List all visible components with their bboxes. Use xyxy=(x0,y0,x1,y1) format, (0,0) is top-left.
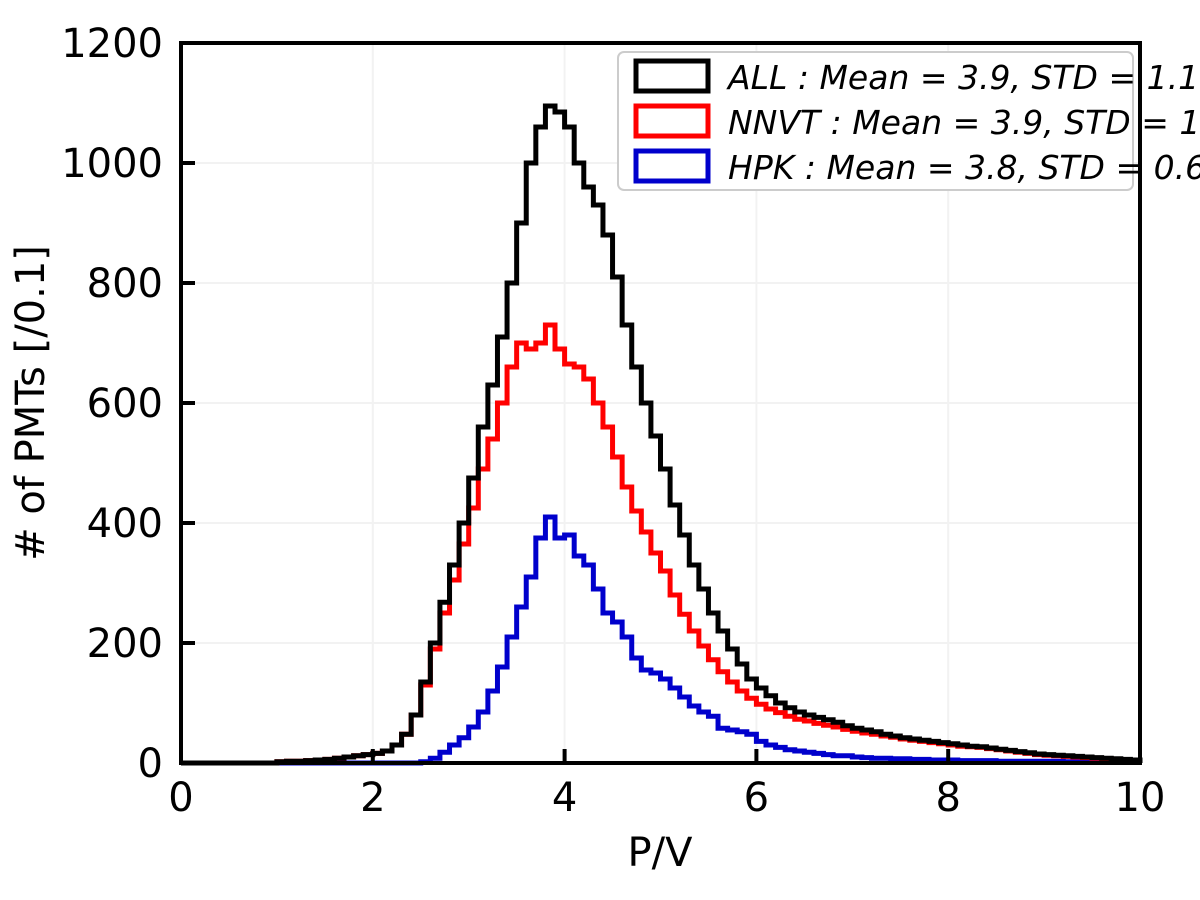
legend-label-nnvt: NNVT : Mean = 3.9, STD = 1.3 xyxy=(728,103,1200,142)
x-tick-label: 0 xyxy=(168,775,193,821)
legend-label-hpk: HPK : Mean = 3.8, STD = 0.6 xyxy=(728,148,1200,187)
legend: ALL : Mean = 3.9, STD = 1.1NNVT : Mean =… xyxy=(618,52,1200,190)
x-tick-label: 4 xyxy=(552,775,577,821)
legend-swatch-nnvt xyxy=(636,106,708,136)
y-tick-label: 800 xyxy=(87,261,163,307)
pv-distribution-chart: 0200400600800100012000246810 P/V # of PM… xyxy=(0,0,1200,900)
y-tick-label: 600 xyxy=(87,381,163,427)
y-tick-label: 200 xyxy=(87,621,163,667)
y-tick-label: 400 xyxy=(87,501,163,547)
legend-swatch-all xyxy=(636,61,708,91)
x-tick-label: 6 xyxy=(744,775,769,821)
y-axis-label: # of PMTs [/0.1] xyxy=(8,245,54,561)
x-axis-label: P/V xyxy=(628,830,694,876)
legend-label-all: ALL : Mean = 3.9, STD = 1.1 xyxy=(726,58,1199,97)
x-tick-label: 2 xyxy=(360,775,385,821)
y-tick-label: 1200 xyxy=(61,21,163,67)
y-tick-label: 1000 xyxy=(61,141,163,187)
x-tick-label: 8 xyxy=(935,775,960,821)
x-tick-label: 10 xyxy=(1115,775,1166,821)
y-tick-label: 0 xyxy=(138,741,163,787)
histogram-figure: 0200400600800100012000246810 P/V # of PM… xyxy=(0,0,1200,900)
legend-swatch-hpk xyxy=(636,151,708,181)
